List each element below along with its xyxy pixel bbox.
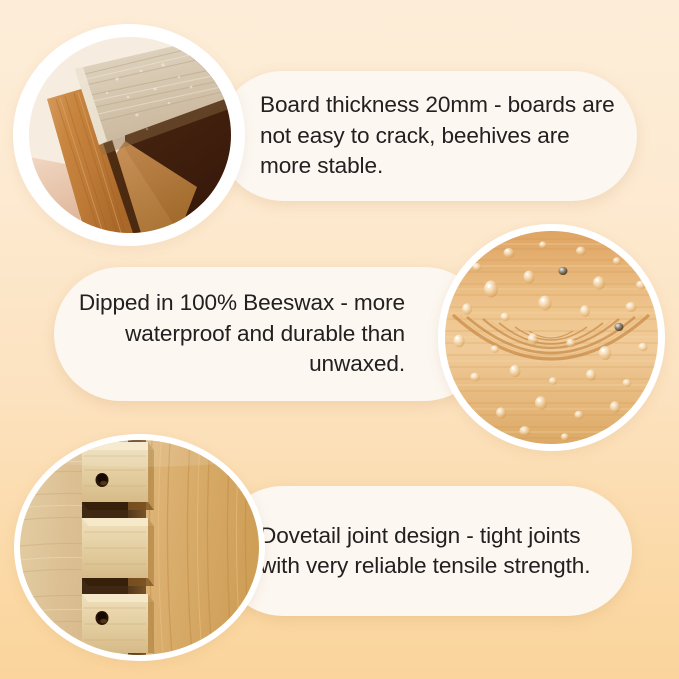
feature-card-beeswax-dipped: Dipped in 100% Beeswax - more waterproof… — [54, 267, 491, 401]
photo-dovetail-joint-image — [20, 440, 259, 655]
beehive-board-corner-illustration — [29, 37, 231, 233]
feature-text-beeswax-dipped: Dipped in 100% Beeswax - more waterproof… — [54, 288, 491, 379]
photo-dovetail-joint — [14, 434, 265, 661]
photo-beeswax-waterproof-image — [445, 231, 658, 444]
photo-board-thickness — [13, 24, 245, 246]
photo-board-thickness-image — [29, 37, 231, 233]
infographic-canvas: Board thickness 20mm - boards are not ea… — [0, 0, 679, 679]
feature-text-board-thickness: Board thickness 20mm - boards are not ea… — [218, 90, 637, 181]
feature-card-board-thickness: Board thickness 20mm - boards are not ea… — [218, 71, 637, 201]
feature-card-dovetail-joint: Dovetail joint design - tight joints wit… — [218, 486, 632, 616]
feature-text-dovetail-joint: Dovetail joint design - tight joints wit… — [218, 521, 632, 582]
photo-beeswax-waterproof — [438, 224, 665, 451]
dovetail-joint-illustration — [20, 440, 259, 655]
water-droplets-on-wood-illustration — [445, 231, 658, 444]
